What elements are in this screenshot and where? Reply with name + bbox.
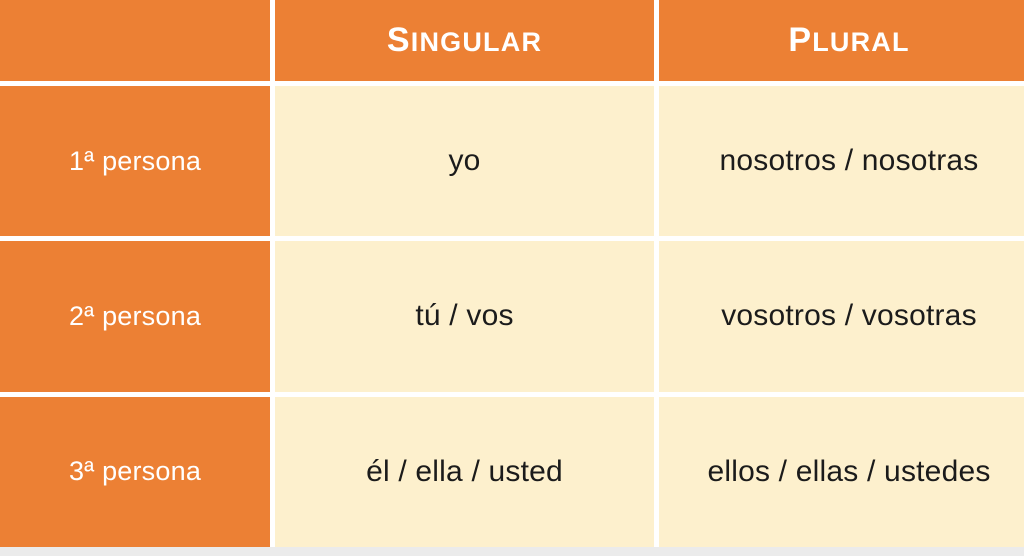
table-header-row: SINGULAR PLURAL <box>0 0 1024 81</box>
cell-second-person-singular: tú / vos <box>275 241 654 391</box>
header-plural-initial: P <box>788 21 812 59</box>
header-singular-rest: INGULAR <box>411 27 542 57</box>
pronoun-table-container: SINGULAR PLURAL 1ª persona yo nosotros /… <box>0 0 1024 547</box>
header-singular-initial: S <box>387 21 411 59</box>
cell-second-person-plural: vosotros / vosotras <box>659 241 1024 391</box>
page-bottom-strip <box>0 547 1024 556</box>
table-row: 1ª persona yo nosotros / nosotras <box>0 86 1024 236</box>
cell-third-person-singular: él / ella / usted <box>275 397 654 547</box>
cell-first-person-plural: nosotros / nosotras <box>659 86 1024 236</box>
table-row: 3ª persona él / ella / usted ellos / ell… <box>0 397 1024 547</box>
header-singular: SINGULAR <box>275 0 654 81</box>
row-label-third-person: 3ª persona <box>0 397 270 547</box>
header-plural-rest: LURAL <box>812 27 909 57</box>
table-row: 2ª persona tú / vos vosotros / vosotras <box>0 241 1024 391</box>
cell-third-person-plural: ellos / ellas / ustedes <box>659 397 1024 547</box>
row-label-second-person: 2ª persona <box>0 241 270 391</box>
header-plural: PLURAL <box>659 0 1024 81</box>
header-corner-blank <box>0 0 270 81</box>
spanish-subject-pronouns-table: SINGULAR PLURAL 1ª persona yo nosotros /… <box>0 0 1024 547</box>
row-label-first-person: 1ª persona <box>0 86 270 236</box>
cell-first-person-singular: yo <box>275 86 654 236</box>
